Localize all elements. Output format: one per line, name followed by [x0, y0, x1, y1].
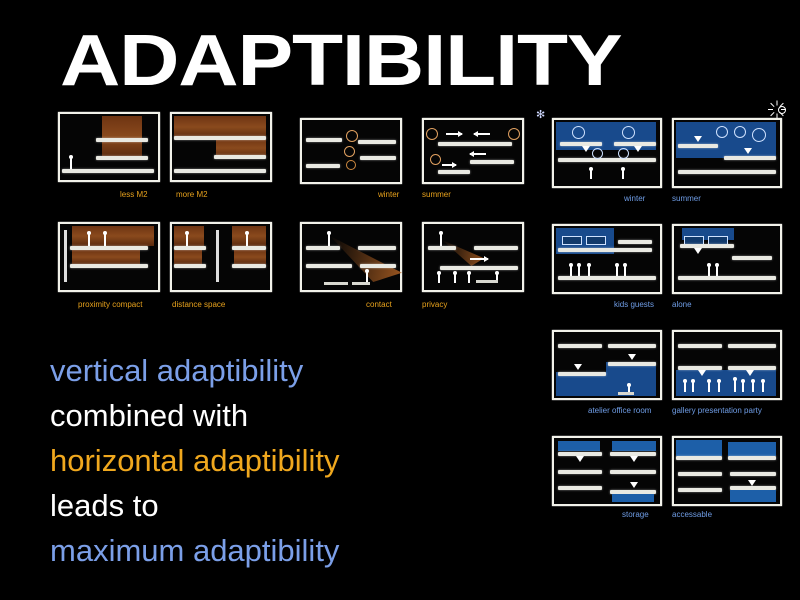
sun-ray	[777, 101, 778, 106]
sketch-content	[552, 118, 662, 188]
caption-distance-space: distance space	[172, 300, 225, 310]
air-swirl	[344, 146, 355, 157]
floor-slab	[676, 456, 722, 460]
floor-slab	[728, 344, 776, 348]
airflow-arrow	[446, 133, 462, 135]
figure	[708, 382, 710, 392]
support-mark	[744, 148, 752, 154]
floor-slab	[558, 344, 602, 348]
sketch-content	[300, 222, 402, 292]
ground-slab	[678, 276, 776, 280]
figure	[684, 382, 686, 392]
floor-slab	[608, 362, 656, 366]
floor-slab	[680, 244, 734, 248]
floor-slab	[438, 170, 470, 174]
diagram-contact[interactable]	[300, 222, 402, 292]
sight-beam	[442, 240, 484, 266]
furniture	[324, 282, 348, 285]
storage-band	[730, 490, 776, 502]
floor-slab	[360, 264, 396, 268]
figure	[438, 274, 440, 283]
floor-slab	[358, 140, 396, 144]
figure	[742, 382, 744, 392]
support-mark	[694, 136, 702, 142]
statement-line-1: vertical adaptibility	[50, 348, 490, 393]
floor-slab	[306, 246, 340, 250]
hatch-edge	[216, 230, 219, 282]
brown-volume	[234, 250, 266, 264]
floor-slab	[70, 246, 148, 250]
storage-band	[612, 494, 654, 502]
floor-slab	[174, 136, 266, 140]
figure	[88, 234, 90, 246]
figure	[104, 234, 106, 246]
figure	[622, 170, 624, 179]
airflow-arrow	[442, 164, 456, 166]
floor-slab	[232, 264, 266, 268]
sketch-content	[672, 436, 782, 506]
brown-volume	[174, 116, 266, 138]
air-swirl	[572, 126, 585, 139]
floor-slab	[360, 156, 396, 160]
airflow-arrow	[470, 153, 486, 155]
floor-slab	[438, 142, 512, 146]
brown-volume	[174, 226, 204, 246]
caption-less-m2: less M2	[120, 190, 148, 200]
furniture	[618, 392, 634, 395]
floor-slab	[608, 344, 656, 348]
brown-volume	[174, 250, 202, 264]
floor-slab	[678, 472, 722, 476]
sketch-content	[300, 118, 402, 184]
figure	[186, 234, 188, 246]
floor-slab	[558, 486, 602, 490]
caption-gallery-presentation-party: gallery presentation party	[672, 406, 762, 416]
floor-slab	[214, 155, 266, 159]
floor-slab	[560, 142, 602, 146]
floor-slab	[358, 246, 396, 250]
air-swirl	[430, 154, 441, 165]
floor-slab	[440, 266, 518, 270]
figure	[708, 266, 710, 276]
support-mark	[746, 370, 754, 376]
floor-slab	[678, 344, 722, 348]
caption-summer-vertical: summer	[672, 194, 701, 204]
caption-kids-guests: kids guests	[614, 300, 654, 310]
figure	[570, 266, 572, 276]
figure	[718, 382, 720, 392]
caption-summer-horizontal: summer	[422, 190, 451, 200]
floor-slab	[474, 246, 518, 250]
caption-winter-vertical: winter	[624, 194, 645, 204]
sketch-content	[672, 330, 782, 400]
storage-band	[558, 441, 600, 451]
diagram-proximity-compact[interactable]	[58, 222, 160, 292]
statement-line-5: maximum adaptibility	[50, 528, 490, 573]
caption-proximity-compact: proximity compact	[78, 300, 142, 310]
air-swirl	[426, 128, 438, 140]
floor-slab	[558, 470, 602, 474]
caption-atelier-office-room: atelier office room	[588, 406, 651, 416]
diagram-less-m2[interactable]	[58, 112, 160, 182]
brown-volume	[72, 226, 154, 246]
caption-accessable: accessable	[672, 510, 712, 520]
support-mark	[630, 456, 638, 462]
floor-slab	[306, 264, 352, 268]
figure	[752, 382, 754, 392]
brown-volume	[232, 226, 266, 246]
support-mark	[634, 146, 642, 152]
caption-alone: alone	[672, 300, 692, 310]
caption-winter-horizontal: winter	[378, 190, 399, 200]
sketch-content	[170, 112, 272, 182]
room-unit	[562, 236, 582, 245]
support-mark	[698, 370, 706, 376]
floor-slab	[306, 164, 340, 168]
air-swirl	[752, 128, 766, 142]
figure	[578, 266, 580, 276]
diagram-atelier-office-room[interactable]	[552, 330, 662, 400]
figure	[454, 274, 456, 283]
diagram-privacy[interactable]	[422, 222, 524, 292]
ground-slab	[62, 169, 154, 173]
storage-band	[612, 441, 656, 451]
blue-volume	[606, 362, 656, 396]
air-swirl	[734, 126, 746, 138]
diagram-winter-horizontal[interactable]	[300, 118, 402, 184]
figure	[70, 158, 72, 169]
support-mark	[748, 480, 756, 486]
sketch-content	[422, 118, 524, 184]
diagram-more-m2[interactable]	[170, 112, 272, 182]
sketch-content	[422, 222, 524, 292]
caption-contact: contact	[366, 300, 392, 310]
floor-slab	[724, 156, 776, 160]
figure	[616, 266, 618, 276]
floor-slab	[732, 256, 772, 260]
airflow-arrow	[474, 133, 490, 135]
floor-slab	[470, 160, 514, 164]
support-mark	[628, 354, 636, 360]
diagram-storage[interactable]	[552, 436, 662, 506]
hatch-edge	[64, 230, 67, 282]
support-mark	[582, 146, 590, 152]
sketch-content	[552, 224, 662, 294]
sun-ray	[770, 103, 774, 107]
brown-volume	[72, 250, 140, 264]
ground-slab	[558, 276, 656, 280]
brown-volume	[102, 116, 142, 158]
figure	[762, 382, 764, 392]
figure	[716, 266, 718, 276]
floor-slab	[730, 472, 776, 476]
floor-slab	[678, 170, 776, 174]
diagram-winter-vertical[interactable]	[552, 118, 662, 188]
caption-privacy: privacy	[422, 300, 447, 310]
air-swirl	[622, 126, 635, 139]
snowflake-icon: ✻	[536, 110, 545, 121]
sun-ray	[768, 109, 773, 110]
diagram-kids-guests[interactable]	[552, 224, 662, 294]
floor-slab	[70, 264, 148, 268]
air-swirl	[716, 126, 728, 138]
figure	[468, 274, 470, 283]
figure	[734, 380, 736, 392]
statement-line-4: leads to	[50, 483, 490, 528]
diagram-alone[interactable]	[672, 224, 782, 294]
floor-slab	[174, 264, 206, 268]
sketch-content	[672, 118, 782, 188]
figure	[366, 272, 368, 282]
air-swirl	[508, 128, 520, 140]
caption-storage: storage	[622, 510, 649, 520]
floor-slab	[678, 144, 718, 148]
air-swirl	[346, 160, 356, 170]
blue-volume	[676, 370, 776, 396]
floor-slab	[610, 470, 656, 474]
floor-slab	[558, 372, 606, 376]
figure	[440, 234, 442, 246]
floor-slab	[96, 138, 148, 142]
diagram-accessable[interactable]	[672, 436, 782, 506]
floor-slab	[174, 246, 206, 250]
sketch-content	[552, 330, 662, 400]
sketch-content	[170, 222, 272, 292]
floor-slab	[428, 246, 456, 250]
sun-ray	[781, 109, 786, 110]
diagram-summer-horizontal[interactable]	[422, 118, 524, 184]
figure	[590, 170, 592, 179]
statement-block: vertical adaptibility combined with hori…	[50, 348, 490, 573]
sketch-content	[58, 222, 160, 292]
figure	[328, 234, 330, 246]
figure	[624, 266, 626, 276]
sketch-content	[672, 224, 782, 294]
storage-band	[728, 442, 776, 456]
figure	[692, 382, 694, 392]
floor-slab	[728, 456, 776, 460]
floor-slab	[232, 246, 266, 250]
floor-slab	[678, 488, 722, 492]
furniture	[476, 280, 498, 283]
sketch-content	[552, 436, 662, 506]
floor-slab	[96, 156, 148, 160]
sun-ray	[770, 112, 774, 116]
diagram-distance-space[interactable]	[170, 222, 272, 292]
air-swirl	[592, 148, 603, 159]
slide-canvas: ADAPTIBILITY less M2 more M2	[0, 0, 800, 600]
floor-slab	[306, 138, 342, 142]
floor-slab	[558, 158, 656, 162]
ground-slab	[174, 169, 266, 173]
floor-slab	[558, 248, 652, 252]
caption-more-m2: more M2	[176, 190, 208, 200]
support-mark	[576, 456, 584, 462]
room-unit	[586, 236, 606, 245]
storage-band	[676, 440, 722, 456]
diagram-gallery-presentation-party[interactable]	[672, 330, 782, 400]
page-title: ADAPTIBILITY	[60, 26, 800, 96]
support-mark	[694, 248, 702, 254]
sketch-content	[58, 112, 160, 182]
statement-line-2: combined with	[50, 393, 490, 438]
floor-slab	[618, 240, 652, 244]
shift-arrow	[470, 258, 488, 260]
support-mark	[630, 482, 638, 488]
diagram-summer-vertical[interactable]	[672, 118, 782, 188]
furniture	[352, 282, 370, 285]
air-swirl	[618, 148, 629, 159]
support-mark	[574, 364, 582, 370]
statement-line-3: horizontal adaptibility	[50, 438, 490, 483]
air-swirl	[346, 130, 358, 142]
figure	[246, 234, 248, 246]
figure	[588, 266, 590, 276]
sun-icon	[772, 100, 790, 118]
